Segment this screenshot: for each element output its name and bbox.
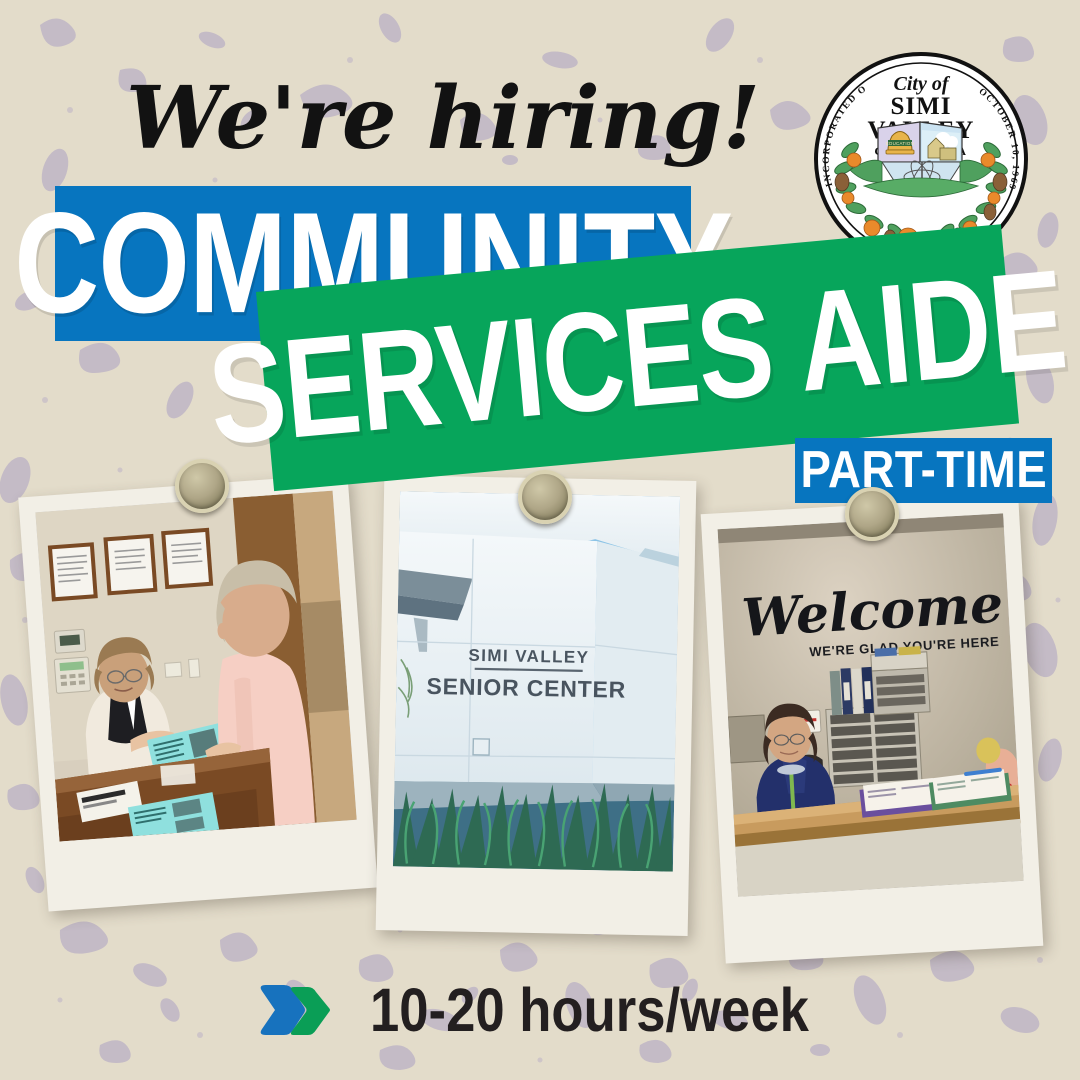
seal-shield-label: EDUCATION [886,141,914,146]
hours-footer: 10-20 hours/week [0,975,1080,1045]
job-posting-poster: We're hiring! INCORPORATED ON OCTOBER 10… [0,0,1080,1080]
photo-welcome-reception: Welcome WE'RE GLAD YOU'RE HERE [718,513,1024,896]
double-chevron-right-icon [258,985,334,1035]
thumbtack-icon [845,487,899,541]
thumbtack-icon [518,470,572,524]
photo-card-senior-center[interactable]: SIMI VALLEY SENIOR CENTER [376,475,697,936]
seal-city-of: City of [894,73,951,95]
photo-card-front-desk[interactable] [18,473,378,911]
script-headline-text: We're hiring! [126,68,760,169]
sign-line-1: SIMI VALLEY [468,646,589,667]
photo-card-welcome-desk[interactable]: Welcome WE'RE GLAD YOU'RE HERE [701,496,1044,963]
thumbtack-icon [175,459,229,513]
photo-senior-center-exterior: SIMI VALLEY SENIOR CENTER [393,491,680,871]
hours-text: 10-20 hours/week [370,979,809,1041]
script-headline: We're hiring! [118,52,638,182]
seal-name-1: SIMI [891,93,952,120]
badge-part-time-label: PART-TIME [800,445,1047,497]
badge-part-time: PART-TIME [795,438,1052,503]
photo-front-desk-brochure [35,491,356,842]
sign-line-2: SENIOR CENTER [426,673,626,703]
